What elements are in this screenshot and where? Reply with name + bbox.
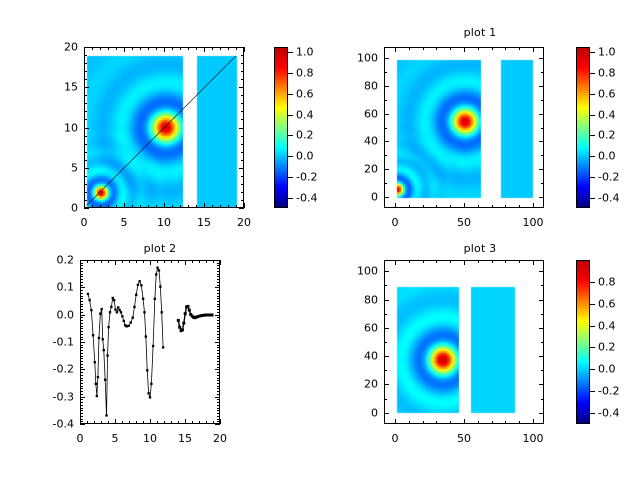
- axis-minor-tick-y: [384, 72, 387, 73]
- axis-minor-tick-x: [116, 47, 117, 50]
- axis-minor-tick-x: [206, 421, 207, 424]
- axis-minor-tick-x: [172, 205, 173, 208]
- axis-major-tick-x: [395, 47, 396, 52]
- axis-minor-tick-x: [220, 47, 221, 50]
- colorbar-tick: [288, 156, 293, 157]
- axis-minor-tick-y: [80, 331, 83, 332]
- data-point-marker: [129, 321, 131, 323]
- data-point-marker: [152, 345, 154, 347]
- axis-major-tick-y: [84, 128, 89, 129]
- y-axis-tick-label: 5: [44, 161, 78, 174]
- axis-minor-tick-y: [80, 276, 83, 277]
- axis-major-tick-y: [215, 287, 220, 288]
- axis-minor-tick-y: [217, 306, 220, 307]
- axis-major-tick-x: [533, 203, 534, 208]
- axis-minor-tick-x: [164, 260, 165, 263]
- colorbar-tick-label: -0.2: [598, 385, 619, 398]
- y-axis-tick-label: 100: [344, 265, 378, 278]
- axis-minor-tick-y: [217, 361, 220, 362]
- colorbar-tick-label: 0.2: [598, 129, 616, 142]
- axis-minor-tick-y: [80, 326, 83, 327]
- colorbar-tick-label: 0.6: [296, 87, 314, 100]
- axis-minor-tick-y: [80, 285, 83, 286]
- colorbar-tick-label: -0.4: [598, 191, 619, 204]
- line-path: [88, 268, 163, 416]
- plot-0-axes[interactable]: [84, 47, 244, 208]
- axis-minor-tick-x: [409, 260, 410, 263]
- axis-minor-tick-y: [80, 378, 83, 379]
- axis-major-tick-y: [215, 397, 220, 398]
- axis-minor-tick-x: [143, 421, 144, 424]
- data-point-marker: [142, 298, 144, 300]
- data-point-marker: [96, 395, 98, 397]
- axis-minor-tick-x: [492, 260, 493, 263]
- axis-minor-tick-y: [217, 367, 220, 368]
- data-point-marker: [114, 308, 116, 310]
- colorbar-tick: [590, 413, 595, 414]
- y-axis-tick-label: 100: [344, 52, 378, 65]
- plot-0-heatmap-image: [85, 48, 244, 208]
- axis-minor-tick-y: [80, 279, 83, 280]
- axis-minor-tick-y: [80, 334, 83, 335]
- axis-major-tick-y: [384, 328, 389, 329]
- axis-minor-tick-y: [217, 312, 220, 313]
- axis-major-tick-y: [384, 271, 389, 272]
- colorbar-tick: [590, 198, 595, 199]
- axis-major-tick-y: [384, 169, 389, 170]
- axis-minor-tick-x: [108, 421, 109, 424]
- axis-minor-tick-x: [423, 205, 424, 208]
- x-axis-tick-label: 10: [143, 432, 157, 445]
- axis-major-tick-y: [539, 328, 544, 329]
- axis-minor-tick-y: [217, 265, 220, 266]
- axis-minor-tick-x: [192, 260, 193, 263]
- y-axis-tick-label: 20: [344, 163, 378, 176]
- axis-minor-tick-y: [217, 304, 220, 305]
- axis-minor-tick-y: [80, 306, 83, 307]
- axis-minor-tick-x: [92, 47, 93, 50]
- axis-minor-tick-x: [122, 260, 123, 263]
- axis-major-tick-y: [384, 413, 389, 414]
- axis-major-tick-y: [384, 141, 389, 142]
- axis-minor-tick-y: [80, 353, 83, 354]
- axis-minor-tick-y: [541, 128, 544, 129]
- axis-minor-tick-x: [199, 260, 200, 263]
- data-point-marker: [87, 293, 89, 295]
- axis-minor-tick-x: [213, 421, 214, 424]
- plot-0-colorbar[interactable]: [274, 47, 288, 208]
- y-axis-tick-label: 0.2: [40, 254, 74, 267]
- axis-minor-tick-x: [450, 47, 451, 50]
- y-axis-tick-label: 0: [344, 190, 378, 203]
- axis-major-tick-y: [384, 384, 389, 385]
- data-point-marker: [143, 311, 145, 313]
- axis-minor-tick-y: [217, 394, 220, 395]
- axis-minor-tick-y: [80, 358, 83, 359]
- data-point-marker: [138, 280, 140, 282]
- axis-minor-tick-x: [156, 47, 157, 50]
- colorbar-tick-label: -0.2: [296, 170, 317, 183]
- axis-minor-tick-y: [241, 136, 244, 137]
- data-point-marker: [211, 314, 214, 317]
- axis-minor-tick-y: [80, 405, 83, 406]
- x-axis-tick-label: 100: [522, 216, 543, 229]
- axis-minor-tick-x: [148, 47, 149, 50]
- axis-minor-tick-x: [180, 47, 181, 50]
- plot-3-title: plot 3: [320, 242, 640, 255]
- axis-minor-tick-x: [108, 205, 109, 208]
- colorbar-tick: [288, 135, 293, 136]
- axis-major-tick-x: [244, 47, 245, 52]
- colorbar-tick: [288, 94, 293, 95]
- colorbar-tick: [288, 177, 293, 178]
- axis-minor-tick-x: [450, 205, 451, 208]
- axis-minor-tick-y: [84, 103, 87, 104]
- data-point-marker: [149, 396, 151, 398]
- axis-major-tick-x: [124, 47, 125, 52]
- axis-major-tick-x: [395, 419, 396, 424]
- axis-minor-tick-x: [450, 260, 451, 263]
- axis-minor-tick-x: [423, 47, 424, 50]
- axis-minor-tick-y: [541, 155, 544, 156]
- axis-major-tick-y: [539, 169, 544, 170]
- data-point-marker: [109, 311, 111, 313]
- axis-major-tick-y: [80, 287, 85, 288]
- data-point-marker: [125, 325, 127, 327]
- axis-minor-tick-y: [217, 331, 220, 332]
- axis-minor-tick-y: [80, 274, 83, 275]
- axis-minor-tick-y: [217, 326, 220, 327]
- axis-minor-tick-x: [519, 260, 520, 263]
- axis-minor-tick-y: [80, 361, 83, 362]
- plot-1-axes[interactable]: [384, 47, 544, 208]
- axis-minor-tick-y: [217, 347, 220, 348]
- x-axis-tick-label: 50: [457, 216, 471, 229]
- data-point-marker: [140, 284, 142, 286]
- axis-major-tick-y: [384, 114, 389, 115]
- subplot-top-right: plot 1 1.00.80.60.40.20.0-0.2-0.40501000…: [320, 0, 640, 240]
- axis-minor-tick-x: [164, 421, 165, 424]
- axis-minor-tick-x: [136, 421, 137, 424]
- data-point-marker: [178, 326, 181, 329]
- plot-3-axes[interactable]: [384, 260, 544, 424]
- colorbar-tick: [590, 326, 595, 327]
- axis-minor-tick-y: [217, 410, 220, 411]
- axis-minor-tick-y: [217, 383, 220, 384]
- axis-minor-tick-x: [236, 205, 237, 208]
- axis-minor-tick-y: [241, 200, 244, 201]
- axis-minor-tick-x: [116, 205, 117, 208]
- axis-major-tick-y: [539, 413, 544, 414]
- data-point-marker: [101, 308, 103, 310]
- x-axis-tick-label: 5: [112, 432, 119, 445]
- axis-minor-tick-y: [384, 128, 387, 129]
- axis-major-tick-x: [533, 47, 534, 52]
- plot-3-colorbar[interactable]: [576, 260, 590, 424]
- axis-minor-tick-x: [101, 260, 102, 263]
- data-point-marker: [137, 284, 139, 286]
- colorbar-tick: [288, 52, 293, 53]
- axis-minor-tick-x: [409, 205, 410, 208]
- subplot-top-left: 1.00.80.60.40.20.0-0.2-0.405101520051015…: [0, 0, 320, 240]
- data-point-marker: [112, 297, 114, 299]
- axis-minor-tick-y: [241, 55, 244, 56]
- axis-major-tick-x: [220, 260, 221, 265]
- y-axis-tick-label: 60: [344, 321, 378, 334]
- data-point-marker: [113, 299, 115, 301]
- axis-minor-tick-x: [478, 205, 479, 208]
- y-axis-tick-label: 0: [44, 202, 78, 215]
- axis-major-tick-x: [244, 203, 245, 208]
- axis-minor-tick-x: [505, 47, 506, 50]
- axis-minor-tick-x: [143, 260, 144, 263]
- axis-minor-tick-y: [80, 383, 83, 384]
- axis-minor-tick-x: [94, 421, 95, 424]
- x-axis-tick-label: 15: [178, 432, 192, 445]
- colorbar-tick-label: 0.6: [598, 87, 616, 100]
- axis-minor-tick-x: [492, 205, 493, 208]
- axis-minor-tick-x: [140, 205, 141, 208]
- axis-minor-tick-y: [217, 413, 220, 414]
- data-point-marker: [120, 311, 122, 313]
- colorbar-tick: [590, 369, 595, 370]
- plot-2-axes[interactable]: [80, 260, 220, 424]
- colorbar-tick: [590, 177, 595, 178]
- axis-minor-tick-y: [217, 323, 220, 324]
- axis-minor-tick-y: [217, 408, 220, 409]
- x-axis-tick-label: 15: [197, 216, 211, 229]
- colorbar-tick-label: 0.8: [296, 66, 314, 79]
- axis-major-tick-y: [84, 168, 89, 169]
- data-point-marker: [94, 361, 96, 363]
- axis-minor-tick-y: [217, 391, 220, 392]
- axis-minor-tick-y: [80, 265, 83, 266]
- axis-major-tick-x: [204, 47, 205, 52]
- y-axis-tick-label: 10: [44, 121, 78, 134]
- axis-minor-tick-y: [217, 290, 220, 291]
- axis-minor-tick-x: [156, 205, 157, 208]
- data-point-marker: [97, 376, 99, 378]
- axis-minor-tick-y: [241, 184, 244, 185]
- data-point-marker: [98, 337, 100, 339]
- axis-minor-tick-x: [171, 260, 172, 263]
- axis-major-tick-y: [384, 197, 389, 198]
- axis-minor-tick-y: [80, 271, 83, 272]
- axis-minor-tick-y: [84, 184, 87, 185]
- axis-minor-tick-y: [241, 160, 244, 161]
- axis-minor-tick-y: [217, 388, 220, 389]
- axis-minor-tick-x: [436, 205, 437, 208]
- axis-minor-tick-y: [241, 152, 244, 153]
- colorbar-tick-label: 0.4: [296, 108, 314, 121]
- colorbar-tick: [590, 304, 595, 305]
- axis-minor-tick-x: [436, 260, 437, 263]
- axis-minor-tick-y: [541, 370, 544, 371]
- axis-minor-tick-y: [217, 399, 220, 400]
- axis-minor-tick-y: [241, 144, 244, 145]
- axis-major-tick-y: [539, 141, 544, 142]
- axis-minor-tick-y: [84, 119, 87, 120]
- axis-minor-tick-y: [80, 337, 83, 338]
- axis-minor-tick-x: [92, 205, 93, 208]
- y-axis-tick-label: -0.3: [40, 390, 74, 403]
- axis-minor-tick-y: [80, 301, 83, 302]
- axis-minor-tick-y: [241, 192, 244, 193]
- axis-minor-tick-x: [178, 421, 179, 424]
- axis-minor-tick-x: [192, 421, 193, 424]
- axis-minor-tick-y: [84, 95, 87, 96]
- axis-major-tick-x: [464, 260, 465, 265]
- data-point-marker: [95, 383, 97, 385]
- plot-1-colorbar-gradient: [577, 48, 589, 207]
- axis-minor-tick-y: [80, 290, 83, 291]
- y-axis-tick-label: 40: [344, 135, 378, 148]
- axis-minor-tick-y: [217, 405, 220, 406]
- axis-minor-tick-y: [84, 136, 87, 137]
- data-point-marker: [181, 328, 184, 331]
- axis-minor-tick-y: [217, 274, 220, 275]
- data-point-marker: [158, 269, 160, 271]
- x-axis-tick-label: 5: [121, 216, 128, 229]
- data-point-marker: [123, 320, 125, 322]
- axis-minor-tick-y: [80, 380, 83, 381]
- axis-major-tick-x: [150, 419, 151, 424]
- axis-minor-tick-x: [436, 47, 437, 50]
- axis-minor-tick-y: [241, 176, 244, 177]
- axis-minor-tick-y: [80, 339, 83, 340]
- axis-minor-tick-y: [217, 328, 220, 329]
- axis-minor-tick-y: [217, 301, 220, 302]
- axis-minor-tick-x: [478, 260, 479, 263]
- data-point-marker: [162, 346, 164, 348]
- data-point-marker: [107, 326, 109, 328]
- data-point-marker: [154, 298, 156, 300]
- axis-minor-tick-x: [87, 260, 88, 263]
- axis-minor-tick-y: [217, 271, 220, 272]
- axis-major-tick-y: [84, 47, 89, 48]
- axis-minor-tick-y: [80, 309, 83, 310]
- axis-minor-tick-y: [80, 364, 83, 365]
- data-point-marker: [159, 285, 161, 287]
- axis-minor-tick-y: [217, 375, 220, 376]
- axis-major-tick-y: [539, 58, 544, 59]
- axis-minor-tick-y: [217, 309, 220, 310]
- colorbar-tick-label: -0.4: [296, 191, 317, 204]
- axis-minor-tick-y: [80, 356, 83, 357]
- axis-minor-tick-y: [217, 317, 220, 318]
- axis-major-tick-y: [80, 397, 85, 398]
- axis-minor-tick-y: [384, 155, 387, 156]
- axis-minor-tick-y: [241, 119, 244, 120]
- axis-minor-tick-y: [541, 183, 544, 184]
- axis-major-tick-x: [533, 419, 534, 424]
- data-point-marker: [135, 294, 137, 296]
- axis-minor-tick-y: [80, 323, 83, 324]
- colorbar-tick-label: 0.8: [598, 275, 616, 288]
- axis-minor-tick-x: [228, 47, 229, 50]
- plot-1-colorbar[interactable]: [576, 47, 590, 208]
- axis-minor-tick-y: [80, 345, 83, 346]
- axis-minor-tick-y: [80, 402, 83, 403]
- axis-minor-tick-y: [80, 347, 83, 348]
- axis-minor-tick-y: [84, 192, 87, 193]
- axis-major-tick-x: [464, 419, 465, 424]
- axis-minor-tick-y: [541, 100, 544, 101]
- axis-minor-tick-x: [519, 205, 520, 208]
- axis-major-tick-x: [115, 419, 116, 424]
- axis-minor-tick-x: [100, 205, 101, 208]
- data-point-marker: [127, 325, 129, 327]
- axis-major-tick-x: [220, 419, 221, 424]
- axis-minor-tick-x: [129, 421, 130, 424]
- axis-minor-tick-x: [199, 421, 200, 424]
- axis-minor-tick-y: [217, 279, 220, 280]
- axis-minor-tick-y: [84, 176, 87, 177]
- axis-minor-tick-y: [80, 296, 83, 297]
- axis-minor-tick-y: [80, 399, 83, 400]
- axis-minor-tick-x: [101, 421, 102, 424]
- plot-1-heatmap-image: [385, 48, 544, 208]
- axis-minor-tick-x: [212, 205, 213, 208]
- axis-minor-tick-y: [80, 375, 83, 376]
- plot-1-title: plot 1: [320, 26, 640, 39]
- axis-minor-tick-y: [541, 314, 544, 315]
- axis-minor-tick-y: [217, 282, 220, 283]
- axis-minor-tick-y: [80, 410, 83, 411]
- data-point-marker: [155, 273, 157, 275]
- y-axis-tick-label: 20: [344, 378, 378, 391]
- axis-minor-tick-y: [84, 152, 87, 153]
- axis-major-tick-y: [215, 260, 220, 261]
- axis-minor-tick-y: [80, 320, 83, 321]
- axis-minor-tick-x: [519, 421, 520, 424]
- colorbar-tick-label: 0.4: [598, 319, 616, 332]
- axis-minor-tick-y: [217, 339, 220, 340]
- axis-minor-tick-x: [228, 205, 229, 208]
- y-axis-tick-label: 80: [344, 293, 378, 306]
- axis-minor-tick-y: [80, 328, 83, 329]
- axis-major-tick-y: [215, 315, 220, 316]
- plot-3-heatmap-image: [385, 261, 544, 424]
- colorbar-tick: [590, 94, 595, 95]
- axis-major-tick-y: [84, 87, 89, 88]
- axis-major-tick-y: [384, 356, 389, 357]
- axis-minor-tick-x: [157, 260, 158, 263]
- axis-major-tick-y: [239, 208, 244, 209]
- axis-minor-tick-y: [80, 391, 83, 392]
- axis-minor-tick-y: [217, 416, 220, 417]
- axis-minor-tick-y: [80, 394, 83, 395]
- axis-major-tick-x: [464, 203, 465, 208]
- axis-major-tick-y: [539, 384, 544, 385]
- axis-minor-tick-x: [196, 205, 197, 208]
- axis-major-tick-y: [539, 197, 544, 198]
- axis-minor-tick-y: [217, 372, 220, 373]
- axis-major-tick-x: [395, 203, 396, 208]
- x-axis-tick-label: 0: [392, 216, 399, 229]
- axis-major-tick-x: [395, 260, 396, 265]
- axis-minor-tick-y: [217, 276, 220, 277]
- data-point-marker: [99, 312, 101, 314]
- colorbar-tick: [590, 282, 595, 283]
- axis-major-tick-y: [84, 208, 89, 209]
- axis-minor-tick-y: [217, 320, 220, 321]
- axis-minor-tick-x: [136, 260, 137, 263]
- axis-minor-tick-y: [84, 111, 87, 112]
- axis-minor-tick-y: [84, 63, 87, 64]
- axis-minor-tick-x: [132, 47, 133, 50]
- axis-minor-tick-y: [80, 317, 83, 318]
